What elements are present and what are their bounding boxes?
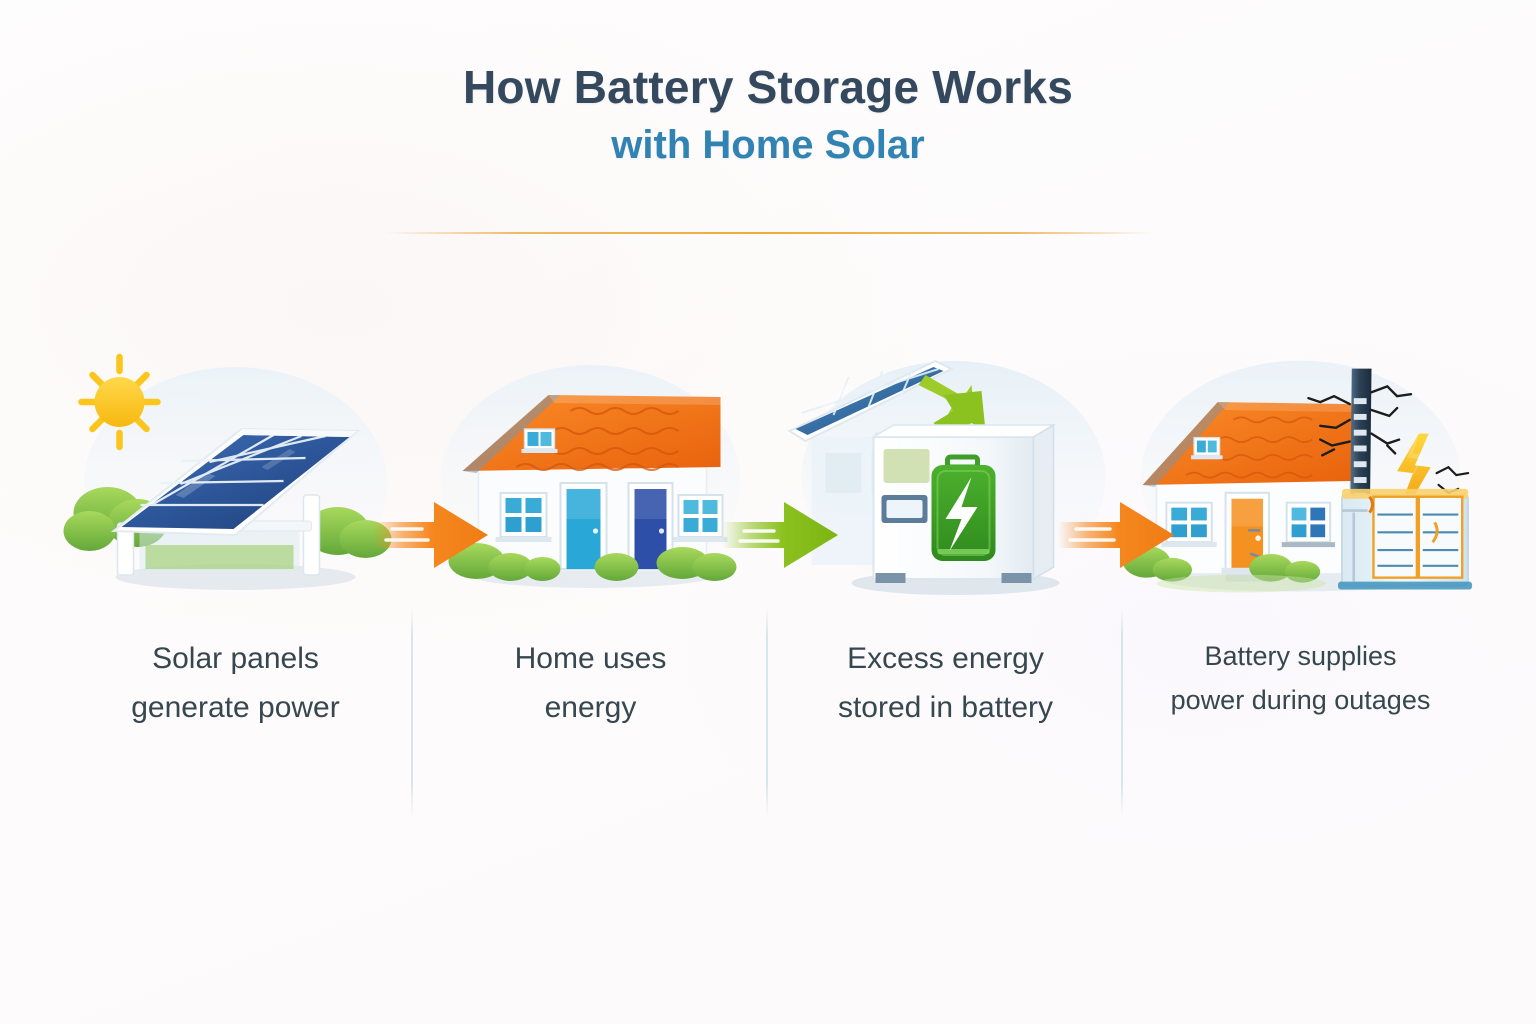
page-subtitle: with Home Solar [0,120,1536,170]
window-icon [1191,438,1223,460]
page-title: How Battery Storage Works [0,62,1536,114]
step-1-solar-panels: Solar panels generate power [58,345,413,790]
battery-cabinet-icon [874,425,1054,583]
window-icon [1282,503,1335,547]
title-divider-rule [383,232,1153,234]
flow-arrow-1 [372,498,490,572]
step-1-caption: Solar panels generate power [58,635,413,732]
column-divider [411,607,413,817]
column-divider [1121,607,1123,817]
battery-cabinet-icon [1338,489,1472,590]
flow-arrow-2 [722,498,840,572]
solar-panel-illustration [58,345,413,617]
title-block: How Battery Storage Works with Home Sola… [0,62,1536,170]
battery-storage-illustration [768,345,1123,617]
step-4-caption: Battery supplies power during outages [1123,635,1478,722]
step-2-caption: Home uses energy [413,635,768,732]
outage-backup-illustration [1123,345,1478,617]
column-divider [766,607,768,817]
door-icon [561,483,607,569]
window-icon [496,493,552,542]
step-3-caption: Excess energy stored in battery [768,635,1123,732]
step-4-battery-supplies-power: Battery supplies power during outages [1123,345,1478,790]
house-illustration [413,345,768,617]
window-icon [674,495,728,542]
battery-icon [932,457,996,561]
window-icon [522,429,558,453]
flow-arrow-3 [1058,498,1176,572]
